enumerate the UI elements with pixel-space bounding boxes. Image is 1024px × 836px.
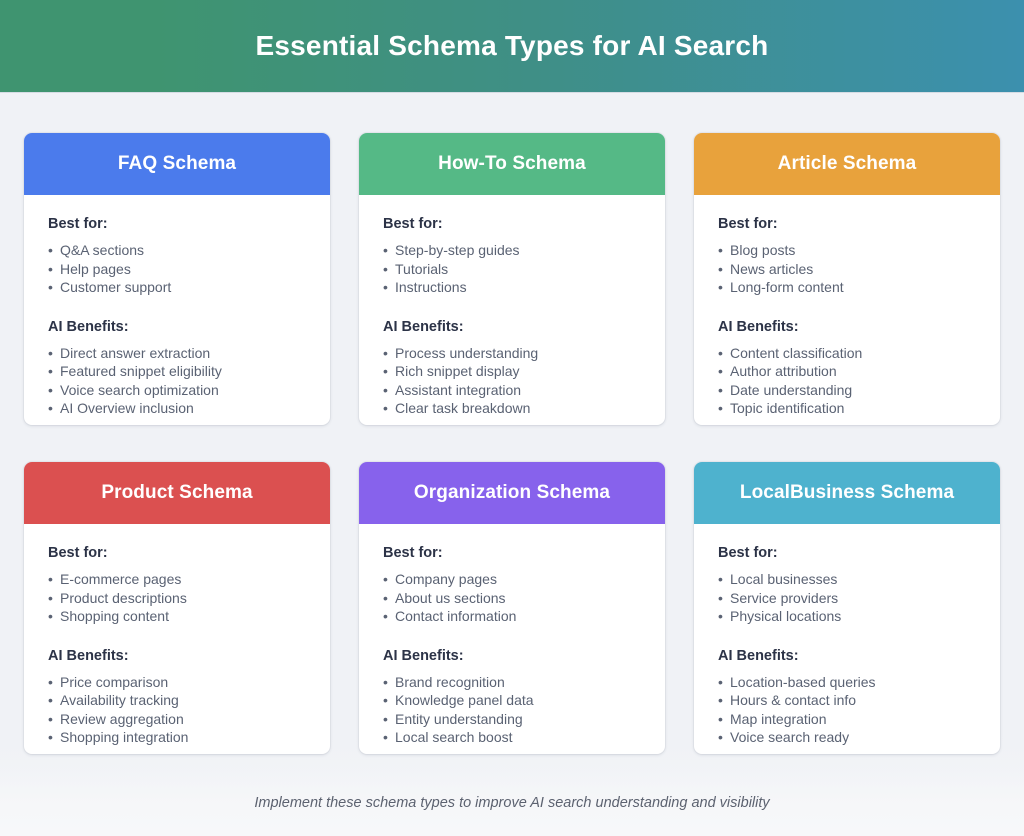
schema-card-faq[interactable]: FAQ Schema Best for: Q&A sections Help p… (24, 133, 330, 425)
best-for-label: Best for: (48, 216, 306, 232)
ai-benefits-list: Process understanding Rich snippet displ… (383, 344, 641, 418)
list-item: Step-by-step guides (383, 241, 641, 260)
list-item: Content classification (718, 344, 976, 363)
list-item: Product descriptions (48, 589, 306, 608)
list-item: Local search boost (383, 728, 641, 747)
infographic-page: Essential Schema Types for AI Search FAQ… (0, 0, 1024, 836)
ai-benefits-label: AI Benefits: (718, 319, 976, 335)
schema-card-localbusiness[interactable]: LocalBusiness Schema Best for: Local bus… (694, 462, 1000, 754)
card-body: Best for: Q&A sections Help pages Custom… (24, 195, 330, 425)
list-item: Voice search optimization (48, 381, 306, 400)
list-item: Featured snippet eligibility (48, 362, 306, 381)
ai-benefits-list: Content classification Author attributio… (718, 344, 976, 418)
list-item: News articles (718, 260, 976, 279)
best-for-label: Best for: (718, 216, 976, 232)
list-item: Price comparison (48, 673, 306, 692)
list-item: Direct answer extraction (48, 344, 306, 363)
card-title: Product Schema (101, 482, 252, 504)
list-item: Hours & contact info (718, 691, 976, 710)
list-item: Tutorials (383, 260, 641, 279)
list-item: Review aggregation (48, 710, 306, 729)
list-item: Local businesses (718, 570, 976, 589)
card-body: Best for: E-commerce pages Product descr… (24, 524, 330, 754)
list-item: Clear task breakdown (383, 399, 641, 418)
best-for-list: Step-by-step guides Tutorials Instructio… (383, 241, 641, 297)
list-item: Instructions (383, 278, 641, 297)
best-for-label: Best for: (383, 545, 641, 561)
list-item: About us sections (383, 589, 641, 608)
list-item: AI Overview inclusion (48, 399, 306, 418)
list-item: Assistant integration (383, 381, 641, 400)
card-title: Article Schema (778, 153, 917, 175)
list-item: Blog posts (718, 241, 976, 260)
list-item: Map integration (718, 710, 976, 729)
list-item: Voice search ready (718, 728, 976, 747)
ai-benefits-list: Brand recognition Knowledge panel data E… (383, 673, 641, 747)
ai-benefits-label: AI Benefits: (383, 319, 641, 335)
card-body: Best for: Blog posts News articles Long-… (694, 195, 1000, 425)
list-item: Q&A sections (48, 241, 306, 260)
list-item: Company pages (383, 570, 641, 589)
card-title: FAQ Schema (118, 153, 236, 175)
best-for-list: Q&A sections Help pages Customer support (48, 241, 306, 297)
card-header: FAQ Schema (24, 133, 330, 195)
card-header: Organization Schema (359, 462, 665, 524)
ai-benefits-list: Location-based queries Hours & contact i… (718, 673, 976, 747)
ai-benefits-label: AI Benefits: (383, 648, 641, 664)
list-item: Entity understanding (383, 710, 641, 729)
best-for-list: Blog posts News articles Long-form conte… (718, 241, 976, 297)
list-item: Help pages (48, 260, 306, 279)
ai-benefits-label: AI Benefits: (48, 648, 306, 664)
list-item: Physical locations (718, 607, 976, 626)
page-title: Essential Schema Types for AI Search (256, 30, 769, 62)
card-header: LocalBusiness Schema (694, 462, 1000, 524)
best-for-label: Best for: (48, 545, 306, 561)
list-item: Knowledge panel data (383, 691, 641, 710)
list-item: Contact information (383, 607, 641, 626)
best-for-label: Best for: (718, 545, 976, 561)
best-for-list: Company pages About us sections Contact … (383, 570, 641, 626)
ai-benefits-label: AI Benefits: (48, 319, 306, 335)
card-body: Best for: Local businesses Service provi… (694, 524, 1000, 754)
list-item: Topic identification (718, 399, 976, 418)
list-item: Availability tracking (48, 691, 306, 710)
list-item: E-commerce pages (48, 570, 306, 589)
schema-card-product[interactable]: Product Schema Best for: E-commerce page… (24, 462, 330, 754)
header-banner: Essential Schema Types for AI Search (0, 0, 1024, 93)
card-body: Best for: Company pages About us section… (359, 524, 665, 754)
list-item: Location-based queries (718, 673, 976, 692)
ai-benefits-label: AI Benefits: (718, 648, 976, 664)
card-header: How-To Schema (359, 133, 665, 195)
best-for-list: Local businesses Service providers Physi… (718, 570, 976, 626)
card-title: LocalBusiness Schema (740, 482, 954, 504)
list-item: Shopping content (48, 607, 306, 626)
schema-card-howto[interactable]: How-To Schema Best for: Step-by-step gui… (359, 133, 665, 425)
schema-card-organization[interactable]: Organization Schema Best for: Company pa… (359, 462, 665, 754)
card-title: How-To Schema (438, 153, 586, 175)
schema-card-article[interactable]: Article Schema Best for: Blog posts News… (694, 133, 1000, 425)
list-item: Shopping integration (48, 728, 306, 747)
card-title: Organization Schema (414, 482, 610, 504)
list-item: Date understanding (718, 381, 976, 400)
footer: Implement these schema types to improve … (0, 770, 1024, 836)
schema-card-grid: FAQ Schema Best for: Q&A sections Help p… (0, 93, 1024, 770)
list-item: Author attribution (718, 362, 976, 381)
ai-benefits-list: Direct answer extraction Featured snippe… (48, 344, 306, 418)
list-item: Brand recognition (383, 673, 641, 692)
ai-benefits-list: Price comparison Availability tracking R… (48, 673, 306, 747)
card-header: Article Schema (694, 133, 1000, 195)
list-item: Rich snippet display (383, 362, 641, 381)
card-header: Product Schema (24, 462, 330, 524)
best-for-label: Best for: (383, 216, 641, 232)
list-item: Long-form content (718, 278, 976, 297)
list-item: Service providers (718, 589, 976, 608)
best-for-list: E-commerce pages Product descriptions Sh… (48, 570, 306, 626)
list-item: Customer support (48, 278, 306, 297)
list-item: Process understanding (383, 344, 641, 363)
footer-note: Implement these schema types to improve … (254, 795, 769, 811)
card-body: Best for: Step-by-step guides Tutorials … (359, 195, 665, 425)
